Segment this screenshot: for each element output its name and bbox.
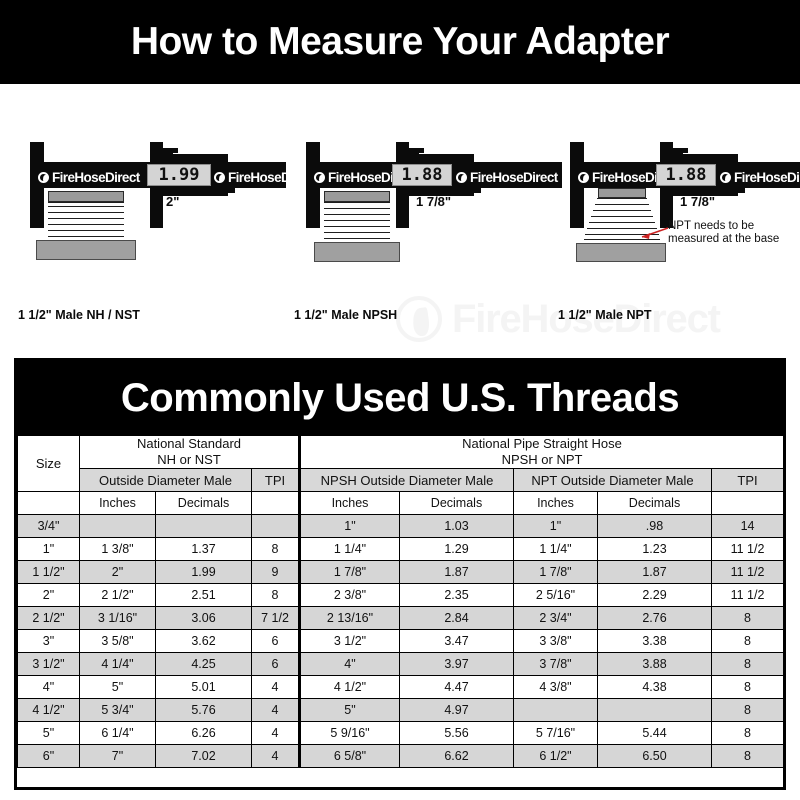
fitting-base-block <box>576 243 666 262</box>
cell-npt-inches: 3 3/8" <box>514 630 598 653</box>
cell-ns-inches <box>80 515 156 538</box>
cell-npt-decimals: 4.38 <box>598 676 712 699</box>
cell-npsh-inches: 1" <box>300 515 400 538</box>
unit-blank-ns-tpi <box>252 492 300 515</box>
cell-npsh-decimals: 3.47 <box>400 630 514 653</box>
cell-ns-inches: 1 3/8" <box>80 538 156 561</box>
caliper-thumb-screw <box>163 150 173 161</box>
cell-ns-tpi: 4 <box>252 722 300 745</box>
cell-npt-decimals: 2.76 <box>598 607 712 630</box>
cell-npt-inches <box>514 699 598 722</box>
table-row: 4 1/2"5 3/4"5.7645"4.978 <box>18 699 784 722</box>
caliper-beam-nub <box>731 186 745 193</box>
cell-size: 3" <box>18 630 80 653</box>
cell-npt-inches: 1 7/8" <box>514 561 598 584</box>
threads-table: Size National Standard NH or NST Nationa… <box>17 435 784 768</box>
flame-logo-icon <box>456 172 467 183</box>
thread-ridge <box>324 232 390 233</box>
cell-npt-inches: 1" <box>514 515 598 538</box>
table-row: 3"3 5/8"3.6263 1/2"3.473 3/8"3.388 <box>18 630 784 653</box>
cell-npsh-decimals: 4.97 <box>400 699 514 722</box>
cell-ns-inches: 6 1/4" <box>80 722 156 745</box>
cell-npt-inches: 6 1/2" <box>514 745 598 768</box>
caliper-diagram-row: FireHoseDirect 1.99 FireHoseDirect <box>0 84 800 354</box>
thread-ridge <box>597 198 647 199</box>
caliper-beam-nub <box>467 186 481 193</box>
table-row: 1"1 3/8"1.3781 1/4"1.291 1/4"1.2311 1/2 <box>18 538 784 561</box>
measure-label: 1 7/8" <box>416 194 451 209</box>
cell-ns-decimals: 3.62 <box>156 630 252 653</box>
table-row: 1 1/2"2"1.9991 7/8"1.871 7/8"1.8711 1/2 <box>18 561 784 584</box>
group-ns-line2: NH or NST <box>80 452 298 468</box>
caliper-reading: 1.88 <box>402 165 443 185</box>
caliper-illustration: FireHoseDirect 1.88 FireHoseDirect <box>292 128 562 278</box>
cell-ns-tpi: 4 <box>252 676 300 699</box>
cell-npsh-decimals: 2.84 <box>400 607 514 630</box>
cell-np-tpi: 8 <box>712 699 784 722</box>
caliper-illustration: FireHoseDirect 1.99 FireHoseDirect <box>16 128 286 278</box>
cell-npsh-inches: 2 13/16" <box>300 607 400 630</box>
cell-size: 6" <box>18 745 80 768</box>
cell-ns-decimals: 5.01 <box>156 676 252 699</box>
cell-size: 3/4" <box>18 515 80 538</box>
col-header-group-national-standard: National Standard NH or NST <box>80 436 300 469</box>
cell-npt-decimals: 2.29 <box>598 584 712 607</box>
thread-ridge <box>324 208 390 209</box>
thread-ridge <box>48 230 124 231</box>
cell-ns-decimals: 5.76 <box>156 699 252 722</box>
diagram-caption: 1 1/2" Male NPSH <box>294 308 397 322</box>
cell-npt-inches: 3 7/8" <box>514 653 598 676</box>
cell-npsh-inches: 1 7/8" <box>300 561 400 584</box>
flame-logo-icon <box>578 172 589 183</box>
cell-ns-decimals: 3.06 <box>156 607 252 630</box>
caliper-fixed-jaw-tip <box>306 142 315 164</box>
cell-size: 4 1/2" <box>18 699 80 722</box>
cell-ns-inches: 3 5/8" <box>80 630 156 653</box>
infographic-root: How to Measure Your Adapter FireHoseDire… <box>0 0 800 800</box>
table-row: 2"2 1/2"2.5182 3/8"2.352 5/16"2.2911 1/2 <box>18 584 784 607</box>
cell-npsh-decimals: 6.62 <box>400 745 514 768</box>
cell-npt-decimals: 1.87 <box>598 561 712 584</box>
cell-ns-tpi: 6 <box>252 630 300 653</box>
cell-npsh-decimals: 2.35 <box>400 584 514 607</box>
strip-watermark-right: FireHoseDirect <box>456 168 558 186</box>
cell-size: 1 1/2" <box>18 561 80 584</box>
table-title: Commonly Used U.S. Threads <box>121 376 679 421</box>
threads-table-block: Commonly Used U.S. Threads Size National… <box>14 358 786 790</box>
cell-ns-decimals: 4.25 <box>156 653 252 676</box>
flame-logo-icon <box>314 172 325 183</box>
table-header-sub-row: Outside Diameter Male TPI NPSH Outside D… <box>18 469 784 492</box>
cell-ns-inches: 7" <box>80 745 156 768</box>
col-header-size: Size <box>18 436 80 492</box>
cell-npsh-inches: 5 9/16" <box>300 722 400 745</box>
cell-npt-decimals: 6.50 <box>598 745 712 768</box>
caliper-thumb-screw <box>409 150 419 161</box>
cell-npsh-inches: 6 5/8" <box>300 745 400 768</box>
cell-npt-inches: 2 3/4" <box>514 607 598 630</box>
table-row: 2 1/2"3 1/16"3.067 1/22 13/16"2.842 3/4"… <box>18 607 784 630</box>
cell-np-tpi: 8 <box>712 676 784 699</box>
fitting-top-face <box>324 191 390 202</box>
cell-ns-tpi: 8 <box>252 538 300 561</box>
caliper-reading: 1.99 <box>159 165 200 185</box>
cell-ns-inches: 5" <box>80 676 156 699</box>
table-header-unit-row: Inches Decimals Inches Decimals Inches D… <box>18 492 784 515</box>
col-header-ns-od-male: Outside Diameter Male <box>80 469 252 492</box>
cell-npsh-inches: 2 3/8" <box>300 584 400 607</box>
npt-note-line1: NPT needs to be <box>668 220 779 233</box>
cell-npt-decimals: 1.23 <box>598 538 712 561</box>
cell-size: 3 1/2" <box>18 653 80 676</box>
cell-size: 2 1/2" <box>18 607 80 630</box>
cell-size: 2" <box>18 584 80 607</box>
thread-ridge <box>48 206 124 207</box>
table-title-banner: Commonly Used U.S. Threads <box>17 361 783 435</box>
measure-label: 2" <box>166 194 179 209</box>
unit-npt-decimals: Decimals <box>598 492 712 515</box>
cell-ns-tpi: 7 1/2 <box>252 607 300 630</box>
cell-npsh-decimals: 1.87 <box>400 561 514 584</box>
col-header-group-national-pipe-straight-hose: National Pipe Straight Hose NPSH or NPT <box>300 436 784 469</box>
table-row: 5"6 1/4"6.2645 9/16"5.565 7/16"5.448 <box>18 722 784 745</box>
thread-ridge <box>48 202 124 203</box>
group-np-line2: NPSH or NPT <box>301 452 783 468</box>
cell-npt-decimals <box>598 699 712 722</box>
group-ns-line1: National Standard <box>80 436 298 452</box>
thread-ridge <box>48 218 124 219</box>
table-row: 3/4"1"1.031".9814 <box>18 515 784 538</box>
cell-ns-tpi: 8 <box>252 584 300 607</box>
table-head: Size National Standard NH or NST Nationa… <box>18 436 784 515</box>
cell-ns-inches: 3 1/16" <box>80 607 156 630</box>
col-header-ns-tpi: TPI <box>252 469 300 492</box>
cell-np-tpi: 8 <box>712 722 784 745</box>
caliper-lcd-display: 1.88 <box>656 164 716 186</box>
cell-npt-inches: 4 3/8" <box>514 676 598 699</box>
thread-ridge <box>324 202 390 203</box>
cell-np-tpi: 8 <box>712 630 784 653</box>
cell-ns-tpi: 9 <box>252 561 300 584</box>
unit-ns-inches: Inches <box>80 492 156 515</box>
cell-npsh-decimals: 1.29 <box>400 538 514 561</box>
strip-watermark-text: FireHoseDirect <box>734 170 800 185</box>
cell-ns-decimals: 6.26 <box>156 722 252 745</box>
cell-npsh-inches: 5" <box>300 699 400 722</box>
page-title-banner: How to Measure Your Adapter <box>0 0 800 84</box>
cell-npt-inches: 5 7/16" <box>514 722 598 745</box>
group-np-line1: National Pipe Straight Hose <box>301 436 783 452</box>
unit-npsh-inches: Inches <box>300 492 400 515</box>
cell-npt-decimals: .98 <box>598 515 712 538</box>
cell-ns-inches: 5 3/4" <box>80 699 156 722</box>
thread-ridge <box>595 204 649 205</box>
caliper-fixed-jaw-tip <box>570 142 579 164</box>
fitting-base-block <box>36 240 136 260</box>
cell-ns-decimals: 7.02 <box>156 745 252 768</box>
npt-note: NPT needs to be measured at the base <box>668 220 779 246</box>
cell-np-tpi: 8 <box>712 607 784 630</box>
cell-ns-decimals: 1.99 <box>156 561 252 584</box>
diagram-npt: FireHoseDirect 1.88 FireHoseDirect <box>556 128 800 343</box>
cell-size: 4" <box>18 676 80 699</box>
diagram-nh-nst: FireHoseDirect 1.99 FireHoseDirect <box>16 128 286 343</box>
strip-watermark-text: FireHoseDirect <box>470 170 558 185</box>
diagram-caption: 1 1/2" Male NPT <box>558 308 651 322</box>
cell-np-tpi: 11 1/2 <box>712 584 784 607</box>
cell-npt-decimals: 3.88 <box>598 653 712 676</box>
thread-ridge <box>324 214 390 215</box>
cell-npsh-decimals: 3.97 <box>400 653 514 676</box>
cell-ns-tpi: 4 <box>252 699 300 722</box>
cell-size: 5" <box>18 722 80 745</box>
fitting-base-block <box>314 242 400 262</box>
caliper-thumb-screw <box>673 150 683 161</box>
cell-ns-decimals: 2.51 <box>156 584 252 607</box>
cell-np-tpi: 11 1/2 <box>712 538 784 561</box>
measure-label: 1 7/8" <box>680 194 715 209</box>
cell-ns-inches: 2 1/2" <box>80 584 156 607</box>
col-header-npsh-od-male: NPSH Outside Diameter Male <box>300 469 514 492</box>
thread-ridge <box>591 216 653 217</box>
col-header-np-tpi: TPI <box>712 469 784 492</box>
cell-npsh-inches: 1 1/4" <box>300 538 400 561</box>
table-body: 3/4"1"1.031".98141"1 3/8"1.3781 1/4"1.29… <box>18 515 784 768</box>
table-row: 3 1/2"4 1/4"4.2564"3.973 7/8"3.888 <box>18 653 784 676</box>
diagram-caption: 1 1/2" Male NH / NST <box>18 308 140 322</box>
unit-npt-inches: Inches <box>514 492 598 515</box>
thread-ridge <box>48 212 124 213</box>
diagram-npsh: FireHoseDirect 1.88 FireHoseDirect <box>292 128 562 343</box>
cell-npsh-decimals: 4.47 <box>400 676 514 699</box>
cell-np-tpi: 14 <box>712 515 784 538</box>
col-header-npt-od-male: NPT Outside Diameter Male <box>514 469 712 492</box>
caliper-reading: 1.88 <box>666 165 707 185</box>
npt-note-line2: measured at the base <box>668 233 779 246</box>
thread-ridge <box>589 222 655 223</box>
table-row: 4"5"5.0144 1/2"4.474 3/8"4.388 <box>18 676 784 699</box>
cell-npt-inches: 2 5/16" <box>514 584 598 607</box>
flame-logo-icon <box>214 172 225 183</box>
cell-npsh-decimals: 5.56 <box>400 722 514 745</box>
fitting-top-face <box>48 191 124 202</box>
cell-ns-tpi <box>252 515 300 538</box>
cell-npsh-inches: 3 1/2" <box>300 630 400 653</box>
fitting-top-face <box>598 188 646 198</box>
unit-ns-decimals: Decimals <box>156 492 252 515</box>
cell-np-tpi: 11 1/2 <box>712 561 784 584</box>
cell-ns-decimals <box>156 515 252 538</box>
caliper-illustration: FireHoseDirect 1.88 FireHoseDirect <box>556 128 800 278</box>
unit-blank-size <box>18 492 80 515</box>
thread-ridge <box>324 220 390 221</box>
strip-watermark-right: FireHoseDirect <box>720 168 800 186</box>
cell-npsh-inches: 4 1/2" <box>300 676 400 699</box>
cell-npsh-inches: 4" <box>300 653 400 676</box>
cell-npsh-decimals: 1.03 <box>400 515 514 538</box>
thread-ridge <box>593 210 651 211</box>
flame-logo-icon <box>720 172 731 183</box>
unit-npsh-decimals: Decimals <box>400 492 514 515</box>
table-row: 6"7"7.0246 5/8"6.626 1/2"6.508 <box>18 745 784 768</box>
npt-note-arrow-icon <box>634 226 670 240</box>
cell-npt-decimals: 5.44 <box>598 722 712 745</box>
table-header-group-row: Size National Standard NH or NST Nationa… <box>18 436 784 469</box>
cell-np-tpi: 8 <box>712 653 784 676</box>
caliper-beam-nub <box>221 186 235 193</box>
caliper-fixed-jaw-tip <box>30 142 39 164</box>
cell-npt-inches: 1 1/4" <box>514 538 598 561</box>
cell-ns-tpi: 4 <box>252 745 300 768</box>
thread-ridge <box>48 236 124 237</box>
cell-ns-decimals: 1.37 <box>156 538 252 561</box>
unit-blank-np-tpi <box>712 492 784 515</box>
cell-ns-inches: 2" <box>80 561 156 584</box>
cell-size: 1" <box>18 538 80 561</box>
strip-watermark-text: FireHoseDirect <box>52 170 140 185</box>
caliper-lcd-display: 1.88 <box>392 164 452 186</box>
cell-np-tpi: 8 <box>712 745 784 768</box>
thread-ridge <box>324 226 390 227</box>
cell-ns-tpi: 6 <box>252 653 300 676</box>
thread-ridge <box>48 224 124 225</box>
thread-ridge <box>324 238 390 239</box>
strip-watermark-left: FireHoseDirect <box>38 168 140 186</box>
flame-logo-icon <box>38 172 49 183</box>
cell-npt-decimals: 3.38 <box>598 630 712 653</box>
page-title: How to Measure Your Adapter <box>131 20 669 64</box>
caliper-lcd-display: 1.99 <box>147 164 211 186</box>
cell-ns-inches: 4 1/4" <box>80 653 156 676</box>
